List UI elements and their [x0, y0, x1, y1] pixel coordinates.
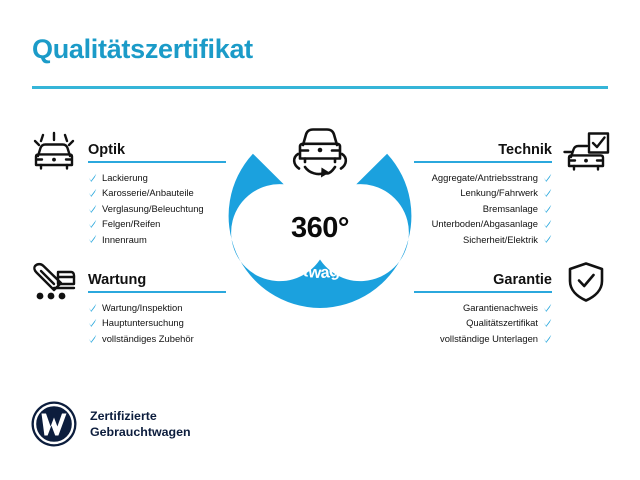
section-wartung-title: Wartung [88, 273, 146, 288]
list-item-label: Wartung/Inspektion [102, 300, 182, 315]
badge-center-label: 360° [228, 212, 412, 245]
section-garantie-title: Garantie [493, 273, 552, 288]
check-icon [543, 204, 552, 214]
list-item: vollständige Unterlagen [414, 331, 552, 346]
list-item-label: Lenkung/Fahrwerk [460, 185, 538, 200]
check-icon [88, 173, 97, 183]
section-technik: Technik Aggregate/Antriebsstrang Lenkung… [414, 134, 614, 158]
check-icon [543, 234, 552, 244]
check-icon [88, 318, 97, 328]
section-optik: Optik Lackierung Karosserie/Anbauteile V… [26, 134, 226, 158]
vw-logo-icon [30, 400, 78, 448]
section-technik-divider [414, 161, 552, 163]
section-technik-title: Technik [498, 143, 552, 158]
car-shine-icon [30, 130, 78, 174]
check-icon [543, 219, 552, 229]
certificate-page: Qualitätszertifikat [0, 0, 640, 480]
section-wartung: Wartung Wartung/Inspektion Hauptuntersuc… [26, 264, 226, 288]
section-optik-title: Optik [88, 143, 125, 158]
list-item-label: Aggregate/Antriebsstrang [432, 170, 538, 185]
check-icon [543, 334, 552, 344]
section-garantie-divider [414, 291, 552, 293]
page-title: Qualitätszertifikat [32, 34, 253, 65]
check-icon [88, 234, 97, 244]
list-item-label: Hauptuntersuchung [102, 315, 184, 330]
check-icon [543, 173, 552, 183]
section-wartung-header: Wartung [26, 264, 226, 288]
list-item: Unterboden/Abgasanlage [414, 216, 552, 231]
list-item: Qualitätszertifikat [414, 315, 552, 330]
list-item: Sicherheit/Elektrik [414, 232, 552, 247]
list-item-label: Verglasung/Beleuchtung [102, 201, 204, 216]
section-technik-items: Aggregate/Antriebsstrang Lenkung/Fahrwer… [414, 170, 614, 247]
check-icon [88, 204, 97, 214]
list-item: Garantienachweis [414, 300, 552, 315]
check-icon [88, 188, 97, 198]
list-item-label: Felgen/Reifen [102, 216, 160, 231]
badge-360-gebrauchtwagen-check: Gebrauchtwagen-Check 360° [228, 124, 412, 308]
car-wrench-icon [30, 260, 78, 304]
footer-branding: Zertifizierte Gebrauchtwagen [30, 400, 191, 448]
list-item-label: Lackierung [102, 170, 148, 185]
section-wartung-divider [88, 291, 226, 293]
footer-line-1: Zertifizierte [90, 408, 191, 424]
check-icon [88, 334, 97, 344]
list-item-label: Sicherheit/Elektrik [463, 232, 538, 247]
list-item: Hauptuntersuchung [88, 315, 288, 330]
car-rotate-icon [284, 120, 356, 186]
check-icon [543, 318, 552, 328]
check-icon [88, 219, 97, 229]
shield-check-icon [562, 260, 610, 304]
list-item-label: Karosserie/Anbauteile [102, 185, 194, 200]
section-optik-divider [88, 161, 226, 163]
check-icon [543, 188, 552, 198]
footer-line-2: Gebrauchtwagen [90, 424, 191, 440]
title-divider [32, 86, 608, 89]
list-item: Bremsanlage [414, 201, 552, 216]
car-checkbox-icon [562, 130, 610, 174]
check-icon [543, 303, 552, 313]
section-optik-header: Optik [26, 134, 226, 158]
list-item-label: Qualitätszertifikat [466, 315, 538, 330]
section-garantie: Garantie Garantienachweis Qualitätszerti… [414, 264, 614, 288]
list-item-label: Unterboden/Abgasanlage [432, 216, 538, 231]
list-item-label: Innenraum [102, 232, 147, 247]
list-item-label: vollständige Unterlagen [440, 331, 538, 346]
list-item: Lenkung/Fahrwerk [414, 185, 552, 200]
list-item: vollständiges Zubehör [88, 331, 288, 346]
section-technik-header: Technik [414, 134, 614, 158]
list-item: Aggregate/Antriebsstrang [414, 170, 552, 185]
footer-text: Zertifizierte Gebrauchtwagen [90, 408, 191, 440]
list-item-label: Garantienachweis [463, 300, 538, 315]
list-item-label: Bremsanlage [483, 201, 538, 216]
list-item-label: vollständiges Zubehör [102, 331, 194, 346]
check-icon [88, 303, 97, 313]
section-garantie-header: Garantie [414, 264, 614, 288]
section-garantie-items: Garantienachweis Qualitätszertifikat vol… [414, 300, 614, 346]
